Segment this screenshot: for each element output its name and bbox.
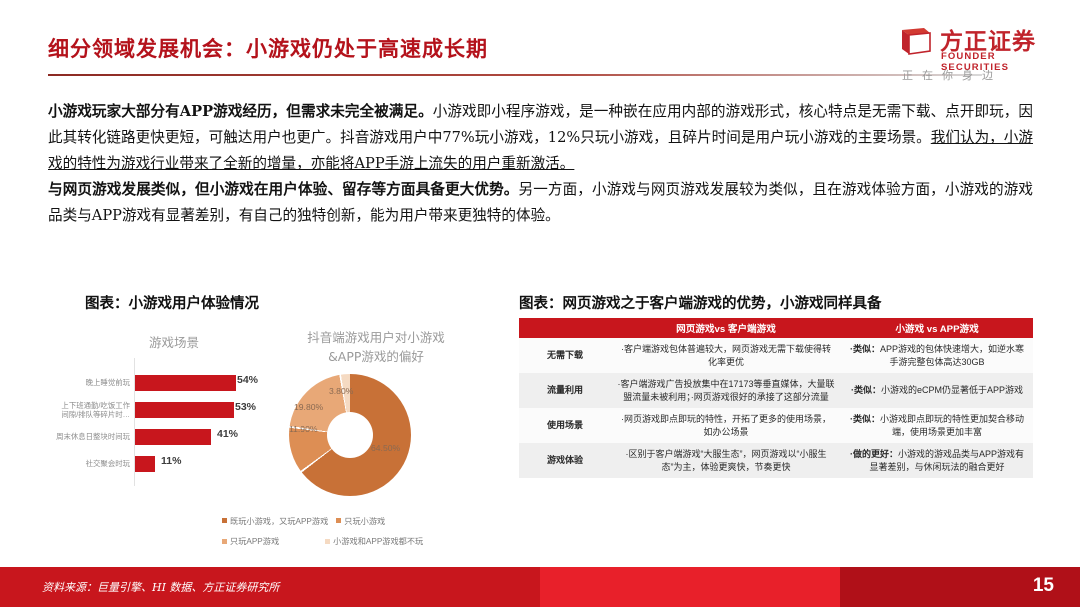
legend-item: 既玩小游戏，又玩APP游戏	[222, 515, 328, 527]
table-cell-right: ·类似：APP游戏的包体快速增大，如逆水寒手游完整包体高达30GB	[841, 338, 1033, 373]
bar-category-label: 晚上睡觉前玩	[56, 370, 130, 396]
p1-lead: 小游戏玩家大部分有APP游戏经历，但需求未完全被满足。	[48, 103, 433, 120]
table-col-header-blank	[519, 318, 611, 338]
table-row: 使用场景 ·网页游戏即点即玩的特性，开拓了更多的使用场景，如办公场景 ·类似：小…	[519, 408, 1033, 443]
footer-bar-mid	[540, 567, 840, 607]
bar-chart: 晚上睡觉前玩 54% 上下班通勤/吃饭工作间隙/排队等碎片时… 53% 周末休息…	[56, 370, 271, 480]
donut-legend: 既玩小游戏，又玩APP游戏只玩小游戏 只玩APP游戏小游戏和APP游戏都不玩	[222, 510, 512, 551]
table-cell-right: ·类似：小游戏的eCPM仍显著低于APP游戏	[841, 373, 1033, 408]
slide: 细分领域发展机会：小游戏仍处于高速成长期 方正证券 FOUNDER SECURI…	[0, 0, 1080, 607]
legend-label: 小游戏和APP游戏都不玩	[333, 535, 423, 547]
donut-value-label: 19.80%	[294, 402, 323, 412]
donut-chart-title: 抖音端游戏用户对小游戏 &APP游戏的偏好	[271, 328, 481, 366]
bar-fill	[135, 375, 236, 391]
paragraph-2: 与网页游戏发展类似，但小游戏在用户体验、留存等方面具备更大优势。另一方面，小游戏…	[48, 177, 1033, 229]
donut-center-hole	[327, 412, 373, 458]
legend-label: 既玩小游戏，又玩APP游戏	[230, 515, 328, 527]
bar-fill	[135, 402, 234, 418]
slide-header: 细分领域发展机会：小游戏仍处于高速成长期 方正证券 FOUNDER SECURI…	[0, 0, 1080, 92]
page-title: 细分领域发展机会：小游戏仍处于高速成长期	[48, 33, 488, 63]
bar-category-label: 周末休息日整块时间玩	[56, 424, 130, 450]
right-figure-caption: 图表：网页游戏之于客户端游戏的优势，小游戏同样具备	[519, 292, 882, 313]
legend-item: 小游戏和APP游戏都不玩	[325, 535, 423, 547]
table-row: 流量利用 ·客户端游戏广告投放集中在17173等垂直媒体，大量联盟流量未被利用；…	[519, 373, 1033, 408]
table-cell-left: ·区别于客户端游戏“大服生态”，网页游戏以“小服生态”为主，体验更爽快，节奏更快	[611, 443, 841, 478]
table-head: 网页游戏vs 客户端游戏 小游戏 vs APP游戏	[519, 318, 1033, 338]
body-text: 小游戏玩家大部分有APP游戏经历，但需求未完全被满足。小游戏即小程序游戏，是一种…	[48, 99, 1033, 229]
table-col-header-mini-vs-app: 小游戏 vs APP游戏	[841, 318, 1033, 338]
donut-value-label: 11.90%	[289, 424, 318, 434]
table-cell-left: ·客户端游戏包体普遍较大，网页游戏无需下载使得转化率更优	[611, 338, 841, 373]
legend-label: 只玩小游戏	[344, 515, 385, 527]
donut-value-label: 3.80%	[329, 386, 353, 396]
table-body: 无需下载 ·客户端游戏包体普遍较大，网页游戏无需下载使得转化率更优 ·类似：AP…	[519, 338, 1033, 478]
bar-category-label: 社交聚会时玩	[56, 451, 130, 477]
bar-value-label: 53%	[235, 401, 256, 413]
table-cell-right: ·做的更好：小游戏的游戏品类与APP游戏有显著差别，与休闲玩法的融合更好	[841, 443, 1033, 478]
founder-logo-icon	[900, 26, 934, 58]
slide-footer: 资料来源：巨量引擎、HI 数据、方正证券研究所 15	[0, 567, 1080, 607]
cell-text: 小游戏的eCPM仍显著低于APP游戏	[881, 385, 1023, 395]
source-note: 资料来源：巨量引擎、HI 数据、方正证券研究所	[42, 579, 279, 595]
cell-lead: ·类似：	[850, 414, 880, 424]
legend-swatch-icon	[222, 518, 227, 523]
cell-lead: ·做的更好：	[850, 449, 898, 459]
legend-swatch-icon	[336, 518, 341, 523]
table-cell-left: ·客户端游戏广告投放集中在17173等垂直媒体，大量联盟流量未被利用；·网页游戏…	[611, 373, 841, 408]
legend-swatch-icon	[325, 539, 330, 544]
table-row-key: 无需下载	[519, 338, 611, 373]
donut-title-line-1: 抖音端游戏用户对小游戏	[271, 328, 481, 347]
logo-slogan: 正在你身边	[902, 67, 1002, 83]
brand-logo: 方正证券 FOUNDER SECURITIES 正在你身边	[894, 24, 1062, 86]
donut-value-label: 64.50%	[371, 443, 400, 453]
paragraph-1: 小游戏玩家大部分有APP游戏经历，但需求未完全被满足。小游戏即小程序游戏，是一种…	[48, 99, 1033, 176]
p2-lead: 与网页游戏发展类似，但小游戏在用户体验、留存等方面具备更大优势。	[48, 181, 519, 198]
comparison-table: 网页游戏vs 客户端游戏 小游戏 vs APP游戏 无需下载 ·客户端游戏包体普…	[519, 318, 1033, 478]
table-header-row: 网页游戏vs 客户端游戏 小游戏 vs APP游戏	[519, 318, 1033, 338]
table-col-header-web-vs-client: 网页游戏vs 客户端游戏	[611, 318, 841, 338]
page-number: 15	[1033, 575, 1054, 597]
legend-item: 只玩APP游戏	[222, 535, 279, 547]
bar-chart-title: 游戏场景	[94, 332, 254, 351]
bar-row: 社交聚会时玩 11%	[56, 451, 271, 477]
table-row-key: 流量利用	[519, 373, 611, 408]
right-figure: 网页游戏vs 客户端游戏 小游戏 vs APP游戏 无需下载 ·客户端游戏包体普…	[519, 318, 1033, 556]
left-figure: 游戏场景 抖音端游戏用户对小游戏 &APP游戏的偏好 晚上睡觉前玩 54% 上下…	[46, 318, 508, 558]
bar-value-label: 11%	[161, 455, 181, 467]
bar-row: 周末休息日整块时间玩 41%	[56, 424, 271, 450]
bar-value-label: 54%	[237, 374, 258, 386]
cell-text: 小游戏即点即玩的特性更加契合移动端，使用场景更加丰富	[880, 414, 1024, 437]
table-row: 无需下载 ·客户端游戏包体普遍较大，网页游戏无需下载使得转化率更优 ·类似：AP…	[519, 338, 1033, 373]
bar-row: 上下班通勤/吃饭工作间隙/排队等碎片时… 53%	[56, 397, 271, 423]
cell-lead: ·类似：	[850, 344, 880, 354]
title-divider	[48, 74, 982, 76]
donut-title-line-2: &APP游戏的偏好	[271, 347, 481, 366]
table-row: 游戏体验 ·区别于客户端游戏“大服生态”，网页游戏以“小服生态”为主，体验更爽快…	[519, 443, 1033, 478]
cell-text: APP游戏的包体快速增大，如逆水寒手游完整包体高达30GB	[880, 344, 1024, 367]
table-cell-right: ·类似：小游戏即点即玩的特性更加契合移动端，使用场景更加丰富	[841, 408, 1033, 443]
table-cell-left: ·网页游戏即点即玩的特性，开拓了更多的使用场景，如办公场景	[611, 408, 841, 443]
bar-category-label: 上下班通勤/吃饭工作间隙/排队等碎片时…	[56, 397, 130, 423]
bar-row: 晚上睡觉前玩 54%	[56, 370, 271, 396]
bar-fill	[135, 456, 155, 472]
bar-value-label: 41%	[217, 428, 238, 440]
legend-label: 只玩APP游戏	[230, 535, 279, 547]
cell-lead: ·类似：	[851, 385, 881, 395]
left-figure-caption: 图表：小游戏用户体验情况	[85, 292, 259, 313]
table-row-key: 游戏体验	[519, 443, 611, 478]
bar-fill	[135, 429, 211, 445]
table-row-key: 使用场景	[519, 408, 611, 443]
legend-swatch-icon	[222, 539, 227, 544]
legend-item: 只玩小游戏	[336, 515, 385, 527]
